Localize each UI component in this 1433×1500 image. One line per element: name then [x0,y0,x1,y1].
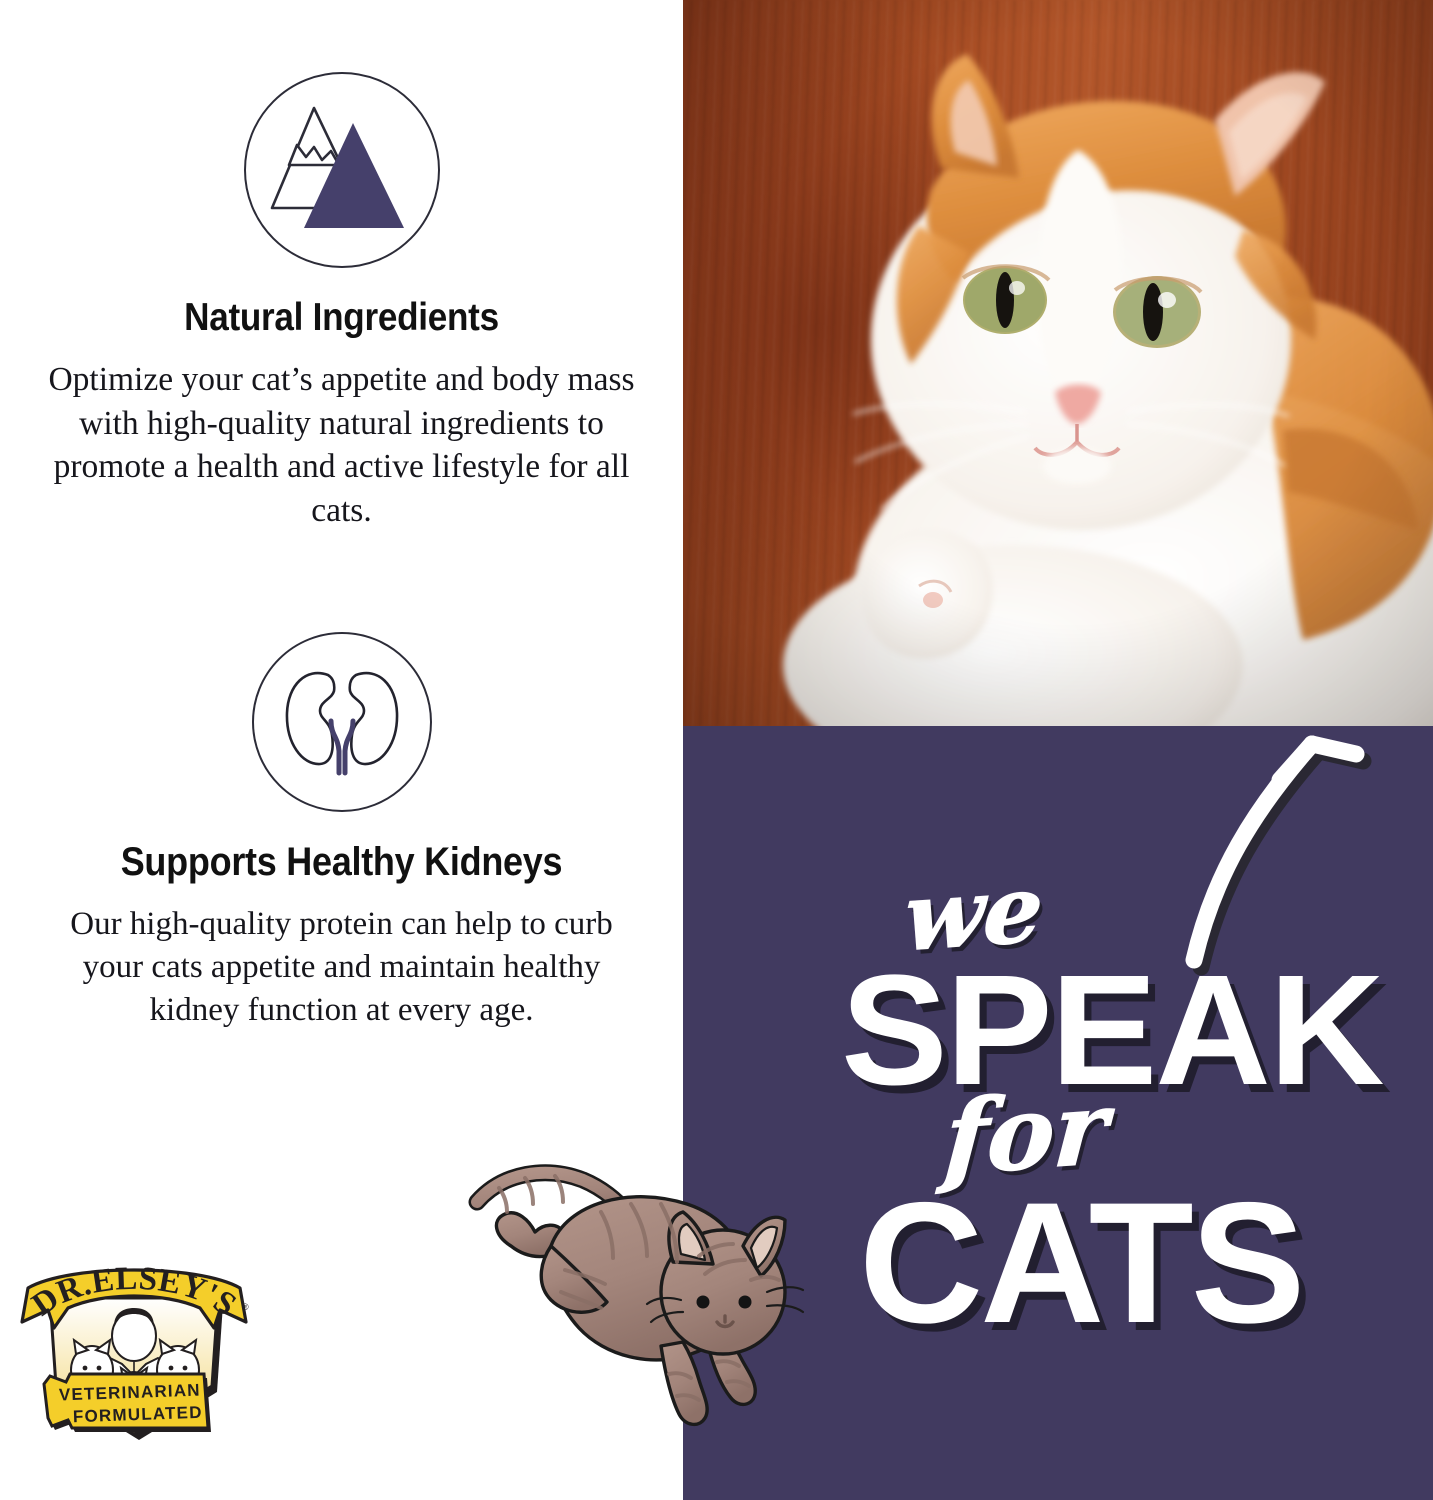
registered-mark: ® [242,1302,249,1312]
feature-natural-ingredients: Natural Ingredients Optimize your cat’s … [0,72,683,532]
dr-elseys-logo: DR.ELSEY'S ® VETERINARIAN FORMULATED [14,1258,254,1453]
feature-supports-healthy-kidneys: Supports Healthy Kidneys Our high-qualit… [0,632,683,1032]
mountain-icon [244,72,440,268]
product-feature-banner: Natural Ingredients Optimize your cat’s … [0,0,1433,1500]
kidneys-icon [252,632,432,812]
feature-body: Optimize your cat’s appetite and body ma… [22,358,662,532]
leaping-cat-illustration [455,1150,855,1450]
feature-title: Natural Ingredients [34,296,649,340]
feature-body: Our high-quality protein can help to cur… [62,903,622,1032]
feature-title: Supports Healthy Kidneys [34,840,649,885]
cat-photo [683,0,1433,726]
photo-vignette [683,0,1433,726]
